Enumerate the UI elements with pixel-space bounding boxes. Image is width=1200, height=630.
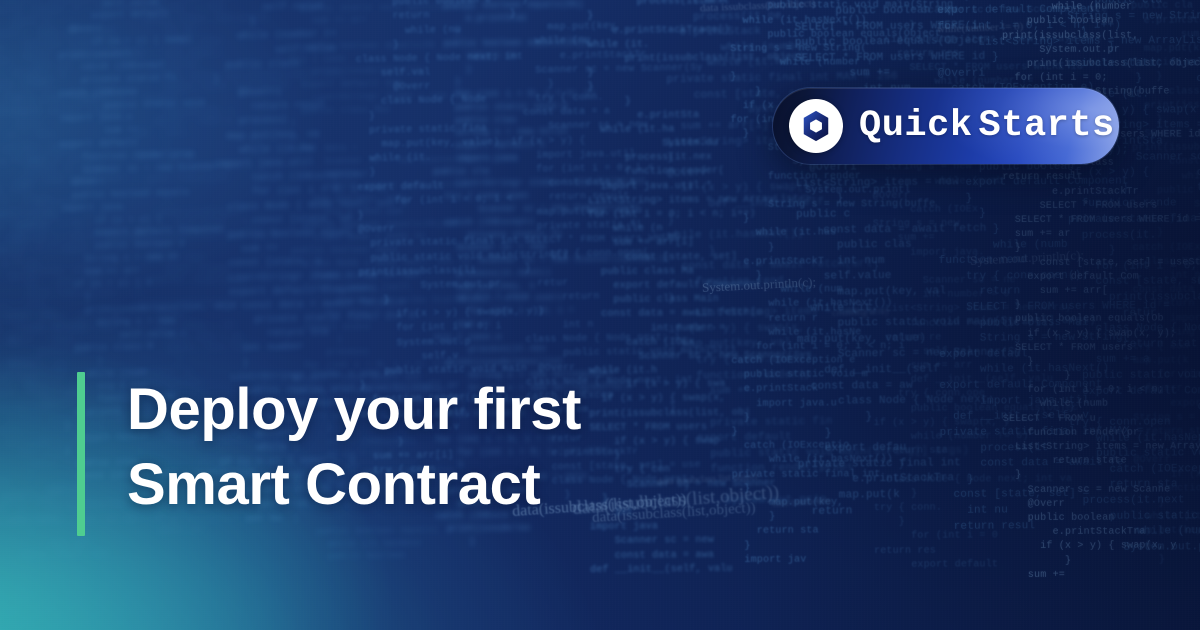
page-title-line-2: Smart Contract [127,447,581,522]
headline-block: Deploy your first Smart Contract [77,372,581,536]
quickstarts-label-part2: Starts [979,105,1115,147]
banner-root: e.printSta int n map.put(key, valu proce… [0,0,1200,630]
quickstarts-label: QuickStarts [859,105,1115,147]
quickstarts-label-part1: Quick [859,105,973,147]
quickstarts-badge[interactable]: QuickStarts [773,88,1119,164]
page-title: Deploy your first Smart Contract [127,372,581,536]
chainlink-hexagon-icon [789,99,843,153]
page-title-line-1: Deploy your first [127,372,581,447]
green-accent-bar [77,372,85,536]
